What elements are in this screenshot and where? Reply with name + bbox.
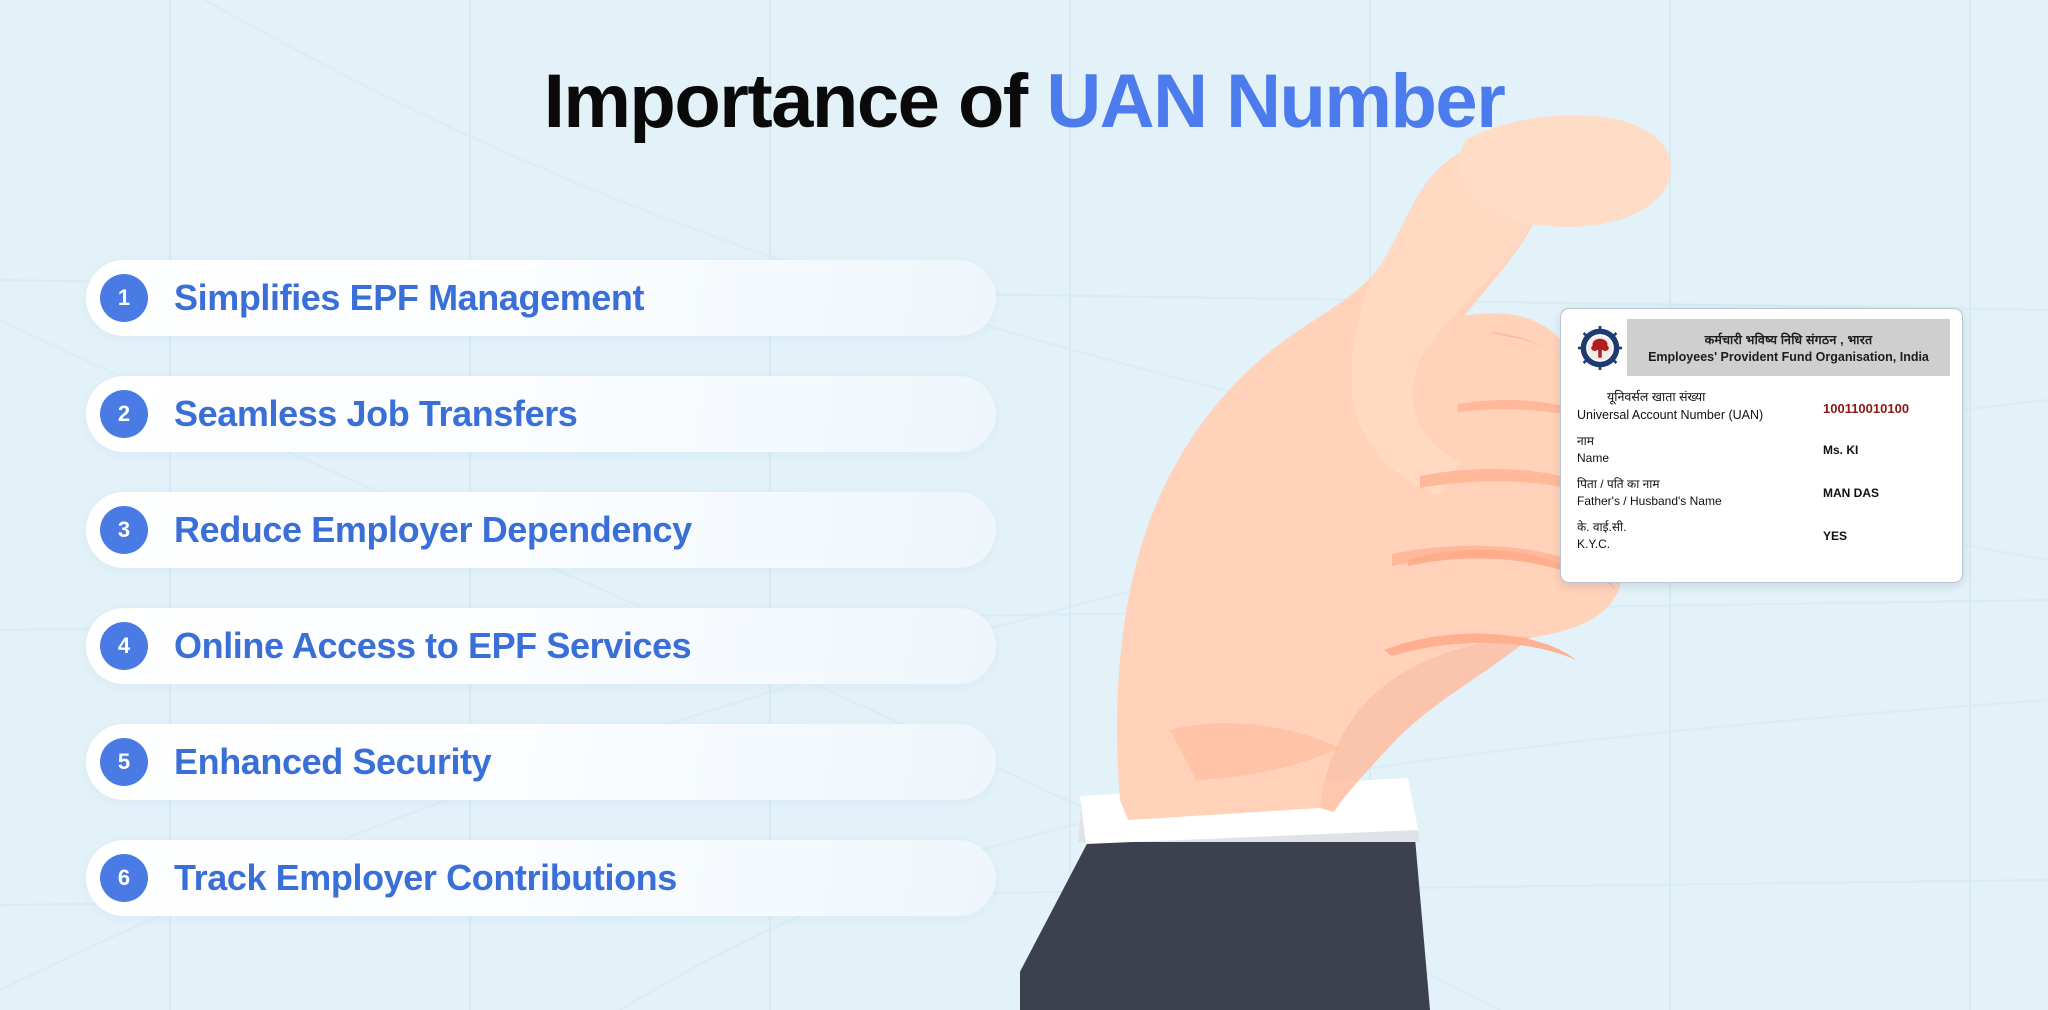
- list-item-label: Reduce Employer Dependency: [174, 509, 692, 551]
- uan-number-row: यूनिवर्सल खाता संख्या Universal Account …: [1573, 388, 1950, 422]
- page-title-accent: UAN Number: [1046, 59, 1504, 144]
- list-item-number: 3: [100, 506, 148, 554]
- org-name-english: Employees' Provident Fund Organisation, …: [1648, 350, 1929, 364]
- field-label-hindi: नाम: [1577, 432, 1823, 449]
- list-item-number: 1: [100, 274, 148, 322]
- uan-card: कर्मचारी भविष्य निधि संगठन , भारत Employ…: [1560, 308, 1963, 583]
- list-item-label: Simplifies EPF Management: [174, 277, 644, 319]
- card-field-labels: पिता / पति का नाम Father's / Husband's N…: [1573, 475, 1823, 508]
- suit-sleeve-shape: [1020, 838, 1430, 1010]
- card-header: कर्मचारी भविष्य निधि संगठन , भारत Employ…: [1573, 319, 1950, 376]
- list-item[interactable]: 2 Seamless Job Transfers: [86, 376, 996, 452]
- organisation-banner: कर्मचारी भविष्य निधि संगठन , भारत Employ…: [1627, 319, 1950, 376]
- list-item[interactable]: 5 Enhanced Security: [86, 724, 996, 800]
- list-item-label: Track Employer Contributions: [174, 857, 677, 899]
- benefits-list: 1 Simplifies EPF Management 2 Seamless J…: [86, 260, 996, 956]
- uan-label-english: Universal Account Number (UAN): [1577, 408, 1823, 422]
- field-value: Ms. KI: [1823, 432, 1858, 457]
- uan-label-hindi: यूनिवर्सल खाता संख्या: [1607, 388, 1823, 405]
- list-item-number: 4: [100, 622, 148, 670]
- list-item[interactable]: 6 Track Employer Contributions: [86, 840, 996, 916]
- field-label-english: K.Y.C.: [1577, 537, 1823, 551]
- page-title: Importance of UAN Number: [0, 62, 2048, 142]
- card-field-father-husband-name: पिता / पति का नाम Father's / Husband's N…: [1573, 475, 1950, 508]
- card-field-labels: के. वाई.सी. K.Y.C.: [1573, 518, 1823, 551]
- field-value: YES: [1823, 518, 1847, 543]
- uan-number-value: 100110010100: [1823, 401, 1909, 416]
- field-label-hindi: के. वाई.सी.: [1577, 518, 1823, 535]
- field-label-hindi: पिता / पति का नाम: [1577, 475, 1823, 492]
- list-item-number: 2: [100, 390, 148, 438]
- list-item[interactable]: 3 Reduce Employer Dependency: [86, 492, 996, 568]
- card-field-kyc: के. वाई.सी. K.Y.C. YES: [1573, 518, 1950, 551]
- list-item[interactable]: 4 Online Access to EPF Services: [86, 608, 996, 684]
- epfo-emblem-svg: [1578, 326, 1622, 370]
- list-item-label: Seamless Job Transfers: [174, 393, 577, 435]
- infographic-canvas: Importance of UAN Number: [0, 0, 2048, 1010]
- org-name-hindi: कर्मचारी भविष्य निधि संगठन , भारत: [1705, 331, 1873, 348]
- card-field-name: नाम Name Ms. KI: [1573, 432, 1950, 465]
- epfo-emblem-icon: [1573, 319, 1627, 376]
- field-label-english: Father's / Husband's Name: [1577, 494, 1823, 508]
- field-label-english: Name: [1577, 451, 1823, 465]
- list-item[interactable]: 1 Simplifies EPF Management: [86, 260, 996, 336]
- list-item-label: Online Access to EPF Services: [174, 625, 691, 667]
- card-field-labels: नाम Name: [1573, 432, 1823, 465]
- list-item-label: Enhanced Security: [174, 741, 491, 783]
- list-item-number: 5: [100, 738, 148, 786]
- field-value: MAN DAS: [1823, 475, 1879, 500]
- list-item-number: 6: [100, 854, 148, 902]
- uan-number-labels: यूनिवर्सल खाता संख्या Universal Account …: [1573, 388, 1823, 422]
- page-title-main: Importance of: [544, 59, 1047, 144]
